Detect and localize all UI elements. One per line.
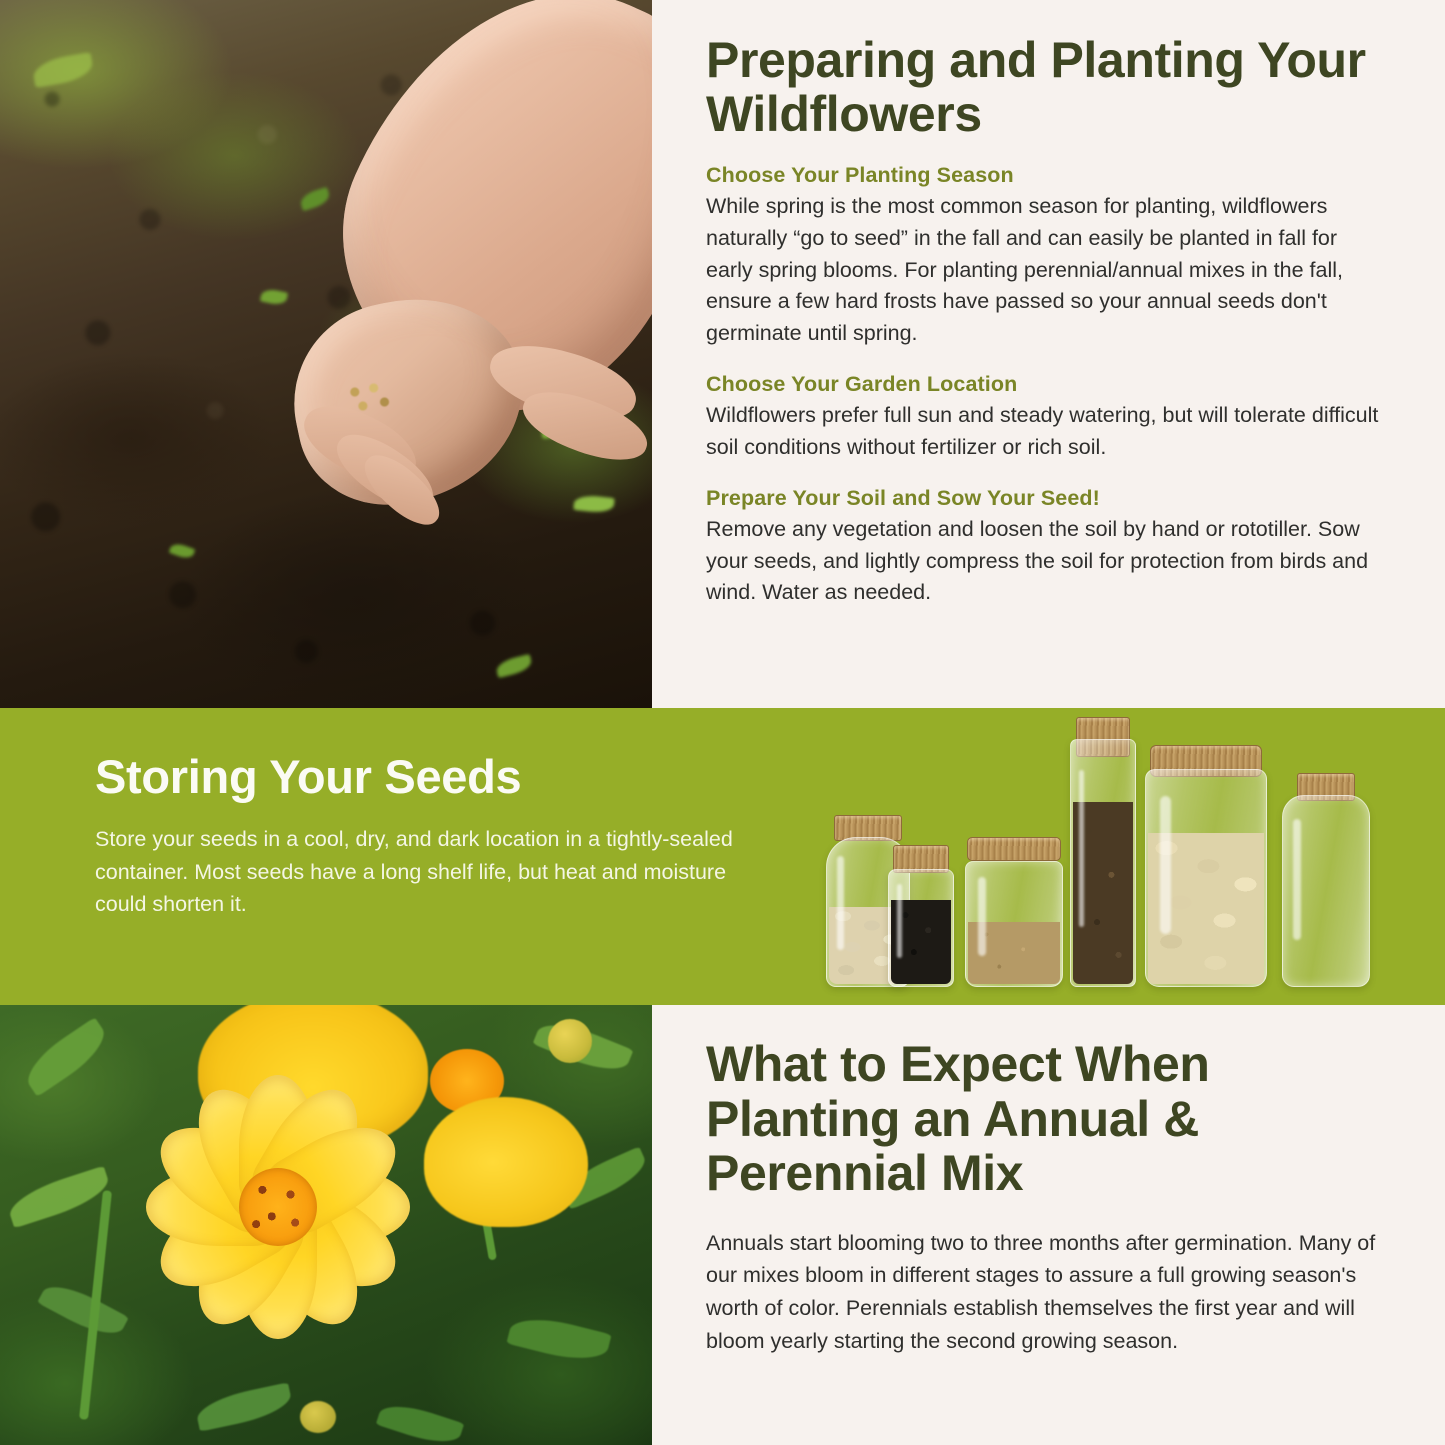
leaf-icon [506,1310,611,1367]
yellow-flower-photo [0,1005,652,1445]
leaf-icon [4,1166,113,1229]
infographic-page: Preparing and Planting Your Wildflowers … [0,0,1445,1445]
page-title: Preparing and Planting Your Wildflowers [706,34,1387,141]
paragraph-planting-season: While spring is the most common season f… [706,191,1387,350]
hand-sowing-seeds-photo [0,0,652,708]
flower-bloom-main [128,1057,428,1357]
subheading-prepare-soil: Prepare Your Soil and Sow Your Seed! [706,486,1387,511]
flower-bloom-side [424,1097,588,1227]
jar-black-seeds [888,847,954,987]
leaf-icon [194,1383,294,1432]
jar-large-pumpkin-seeds [1145,747,1267,987]
planting-text-column: Preparing and Planting Your Wildflowers … [652,0,1445,708]
section-storing-seeds: Storing Your Seeds Store your seeds in a… [0,708,1445,1005]
leaf-icon [18,1017,113,1097]
flower-center [239,1168,317,1246]
subheading-garden-location: Choose Your Garden Location [706,372,1387,397]
storing-paragraph: Store your seeds in a cool, dry, and dar… [95,823,735,920]
expect-text-column: What to Expect When Planting an Annual &… [652,1005,1445,1445]
seeds-in-hand [344,378,398,418]
section-preparing-planting: Preparing and Planting Your Wildflowers … [0,0,1445,708]
leaf-icon [37,1276,129,1344]
storing-text-column: Storing Your Seeds Store your seeds in a… [95,752,735,920]
jar-tan-grain [965,839,1063,987]
flower-bud [548,1019,592,1063]
seed-jars-photo [820,720,1445,1005]
leaf-icon [376,1398,465,1445]
section-what-to-expect: What to Expect When Planting an Annual &… [0,1005,1445,1445]
paragraph-garden-location: Wildflowers prefer full sun and steady w… [706,400,1387,464]
flower-bud [300,1401,336,1433]
jar-tall-tube-dark-seeds [1070,719,1136,987]
expect-paragraph: Annuals start blooming two to three mont… [706,1227,1389,1358]
storing-title: Storing Your Seeds [95,752,735,801]
paragraph-prepare-soil: Remove any vegetation and loosen the soi… [706,514,1387,609]
cork-lid-icon [967,837,1061,861]
subheading-planting-season: Choose Your Planting Season [706,163,1387,188]
jar-sunflower-seeds [1282,775,1370,987]
expect-title: What to Expect When Planting an Annual &… [706,1037,1389,1201]
